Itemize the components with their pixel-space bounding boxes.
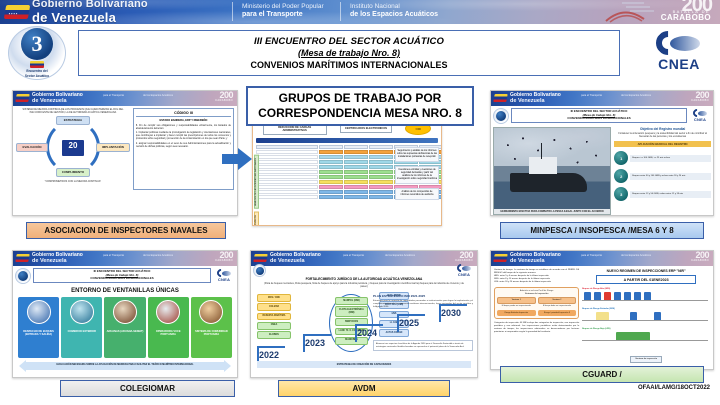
mini-cnea-wordmark: CNEA	[213, 277, 235, 282]
cycle-diagram-panel: SISTEMA DE MEJORA CONTINUA DE LOS PROCES…	[16, 108, 130, 190]
slide-cguard[interactable]: Gobierno Bolivariano de Venezuela para e…	[490, 250, 714, 370]
table-cell	[369, 160, 393, 164]
mini-gov-line-2: de Venezuela	[510, 258, 561, 264]
year-2024: 2024	[357, 328, 377, 338]
ministry-transport-bold: para el Transporte	[242, 11, 303, 18]
column-photo-2	[70, 300, 94, 324]
mini-cnea-logo: CNEA	[453, 264, 475, 277]
blue-arrow-icon	[222, 148, 252, 170]
registro-band: APLICACIÓN GRADUAL DEL REGISTRO	[614, 141, 711, 147]
nir-title: NUEVO REGIMEN DE INSPECCIONES ERP "NIR"	[582, 269, 710, 273]
mini-cnea-mark-icon	[693, 109, 707, 117]
mini-carabobo-label: CARABOBO	[455, 259, 473, 262]
ventanilla-column-1[interactable]: DESPACHO DE BUQUES (ENTRADA Y SALIDA)	[18, 297, 59, 358]
mini-cnea-logo: CNEA	[689, 109, 711, 122]
table-cell	[344, 160, 368, 164]
table-cell	[369, 195, 393, 199]
table-header-cell	[369, 145, 393, 149]
table-cell	[369, 180, 393, 184]
step-text-1: Buques >= 100 GRB, >= 25 mts eslora	[630, 155, 711, 162]
mini-gov-branding: Gobierno Bolivariano de Venezuela	[32, 252, 83, 264]
cycle-node-cumplimiento: CUMPLIMIENTO	[56, 168, 90, 177]
column-photo-1	[27, 300, 51, 324]
perfil-riesgo-title: Admisión o rechazo Perfil de Riesgo	[497, 290, 576, 292]
callout-grupos-trabajo: GRUPOS DE TRABAJO POR CORRESPONDENCIA ME…	[246, 86, 474, 126]
slide-mini-banner: Gobierno Bolivariano de Venezuela para e…	[491, 251, 713, 266]
table-row	[256, 160, 318, 164]
slide-tr-body: HERRAMIENTA EFECTIVA PARA COMBATIR LA PE…	[491, 125, 713, 216]
page-title-line-1: III ENCUENTRO DEL SECTOR ACUÁTICO	[254, 36, 444, 47]
page-title-line-2: (Mesa de trabajo Nro. 8)	[298, 48, 400, 58]
ventana-2-pill: Ventana 2	[538, 297, 577, 304]
tc-blue-header-bar	[256, 138, 438, 143]
risk-axis-standard	[582, 320, 708, 321]
slide-avdm[interactable]: Gobierno Bolivariano de Venezuela para e…	[250, 250, 478, 378]
table-cell	[369, 155, 393, 159]
ventanilla-column-2[interactable]: COMERCIO EXTERIOR	[61, 297, 102, 358]
mini-ministry-1: para el Transporte	[343, 254, 364, 257]
ventana-tiempo-panel: Ventana de tiempo: La ventana de tiempo …	[494, 269, 579, 363]
mini-encuentro-logo	[15, 268, 31, 284]
mini-ministry-2: de los Espacios Acuáticos	[621, 94, 651, 97]
slide-mini-banner: Gobierno Bolivariano de Venezuela para e…	[491, 91, 713, 106]
registro-text: Fortalecer la ordenación pesquera y la s…	[614, 132, 711, 138]
slide-asociacion-inspectores-navales[interactable]: Gobierno Bolivariano de Venezuela para e…	[12, 90, 238, 216]
logo-number: 3	[21, 28, 53, 60]
mini-carabobo-label: CARABOBO	[691, 99, 709, 102]
document-reference-code: OFAAI/LAMG/18OCT2022	[560, 385, 710, 391]
mini-gov-line-2: de Venezuela	[270, 258, 321, 264]
ministry-aquatic-bold: de los Espacios Acuáticos	[350, 11, 438, 18]
risk-row-low: Buques de Riesgo Bajo (LRS)	[582, 328, 710, 344]
avdm-timeline: MCS / ONU COLMAR RESERVA MARÍTIMA CNEA E…	[251, 288, 477, 370]
table-header-cell	[256, 145, 318, 149]
year-2030: 2030	[441, 308, 461, 318]
side-note-seguridad-maritima: Cuestiones emitidas y cuestiones de segu…	[395, 166, 439, 184]
presentation-page: •••• Gobierno Bolivariano de Venezuela M…	[0, 0, 720, 405]
mini-gov-branding: Gobierno Bolivariano de Venezuela	[32, 92, 83, 104]
slide-bl-title-box: III ENCUENTRO DEL SECTOR ACUÁTICO (Mesa …	[33, 268, 211, 283]
year-2025: 2025	[399, 318, 419, 328]
table-row	[256, 175, 318, 179]
mini-encuentro-logo	[493, 108, 509, 124]
avdm-footer-text: ESTRATEGIA DE CREACIÓN DE CAPACIDADES	[257, 361, 471, 368]
table-cell	[319, 160, 343, 164]
table-row	[256, 190, 318, 194]
nir-chart-panel: NUEVO REGIMEN DE INSPECCIONES ERP "NIR" …	[582, 269, 710, 363]
mini-ministry-2: de los Espacios Acuáticos	[385, 254, 415, 257]
risk-row-standard: Buques de Riesgo Estándar (SRS)	[582, 308, 710, 324]
codigo-paragraph-1: 8. Fin de cumplir sus obligaciones y res…	[136, 124, 231, 130]
banner-divider-1	[232, 2, 233, 21]
ministry-transport-small: Ministerio del Poder Popular	[242, 3, 324, 10]
table-cell	[319, 150, 343, 154]
table-header-cell	[319, 145, 343, 149]
table-cell	[369, 165, 393, 169]
banner-divider-2	[340, 2, 341, 21]
page-header: 3 Encuentro del Sector Acuático III ENCU…	[0, 24, 720, 82]
slide-bl-header: III ENCUENTRO DEL SECTOR ACUÁTICO (Mesa …	[13, 266, 237, 285]
government-branding: Gobierno Bolivariano de Venezuela	[32, 0, 148, 24]
column-label-4: OPERADORA VUCE PORTUARIA	[148, 330, 189, 336]
table-row	[256, 165, 318, 169]
page-title-line-3: CONVENIOS MARÍTIMOS INTERNACIONALES	[250, 60, 447, 70]
table-cell	[369, 175, 393, 179]
ventanilla-column-4[interactable]: OPERADORA VUCE PORTUARIA	[148, 297, 189, 358]
cnea-mark-icon	[656, 30, 702, 56]
mini-ministry-2: de los Espacios Acuáticos	[143, 94, 173, 97]
carabobo-line-2: CARABOBO	[661, 13, 711, 22]
label-asociacion-inspectores-navales[interactable]: ASOCIACION DE INSPECTORES NAVALES	[26, 222, 226, 239]
cnea-wordmark: CNEA	[648, 56, 710, 72]
top-banner: •••• Gobierno Bolivariano de Venezuela M…	[0, 0, 720, 24]
tc-side-labels-left: ANÁLISIS DE LAS NORMATIVAS NACIONALES LI…	[254, 155, 265, 226]
encuentro-logo: 3 Encuentro del Sector Acuático	[8, 26, 66, 80]
photo-vessel-mast	[541, 143, 543, 158]
mini-flag-icon	[253, 254, 267, 262]
ventana-bullet-lrs: LRS: entre 24 y 26 meses después de la ú…	[494, 281, 579, 284]
side-label-lista-verificacion: LISTA DE VERIFICACIÓN / CUMPLIMIENTO DE …	[254, 212, 259, 226]
table-cell	[344, 190, 368, 194]
mini-flag-icon	[15, 254, 29, 262]
photo-vessel-hull	[510, 173, 587, 192]
chip-2022-1: MCS / ONU	[257, 294, 291, 302]
step-text-2: Buques entre 50 y 100 GRB y eslora entre…	[630, 173, 711, 180]
window-callout-text: Ventana de inspección	[630, 356, 662, 363]
year-2022: 2022	[259, 350, 279, 360]
column-photo-4	[156, 300, 180, 324]
plan-estrategico-text: Estrategia para la creación de capacidad…	[373, 300, 473, 309]
mini-ministry-2: de los Espacios Acuáticos	[143, 254, 173, 257]
side-label-analisis-normativas: ANÁLISIS DE LAS NORMATIVAS NACIONALES	[254, 155, 259, 209]
perfil-riesgo-box: Admisión o rechazo Perfil de Riesgo Vent…	[494, 287, 579, 320]
ministry-transport-label: Ministerio del Poder Popular para el Tra…	[242, 3, 324, 19]
mini-cnea-wordmark: CNEA	[453, 272, 475, 277]
chip-2022-5: ELOBOS	[257, 331, 291, 339]
risk-row-high: Buques de Riesgo Alto (HRS)	[582, 288, 710, 304]
mini-gov-line-2: de Venezuela	[32, 258, 83, 264]
slide-mini-banner: Gobierno Bolivariano de Venezuela para e…	[251, 251, 477, 266]
ventana-option-1: Ventana 1 El buque puede ser inspecciona…	[497, 297, 536, 308]
page-title-box: III ENCUENTRO DEL SECTOR ACUÁTICO (Mesa …	[78, 30, 620, 76]
mini-flag-icon	[493, 254, 507, 262]
fishing-vessel-photo: HERRAMIENTA EFECTIVA PARA COMBATIR LA PE…	[493, 127, 611, 215]
column-photo-5	[199, 300, 223, 324]
plan-note-text: Alcanzar tres aspectos clave/hitos de la…	[373, 340, 473, 351]
ventanilla-column-5[interactable]: SISTEMA DE COMUNIDAD PORTUARIA	[191, 297, 232, 358]
mini-cnea-mark-icon	[457, 264, 471, 272]
chip-2022-2: COLMAR	[257, 303, 291, 311]
gov-line-2: de Venezuela	[32, 11, 148, 24]
chip-2023-2: FLOTA ELECTRÓNICA (OMI)	[335, 306, 368, 317]
codigo-panel-title: CÓDIGO III	[136, 111, 231, 117]
ventana-option-2: Ventana 2 El buque debe ser inspeccionad…	[538, 297, 577, 308]
arrow-riesgo-estandar: Riesgo Estándar Inspección	[497, 310, 536, 316]
avdm-subtitle: FORTALECIMIENTO JURÍDICO DE LA AUTORIDAD…	[306, 277, 423, 281]
list-item: 2 Buques entre 50 y 100 GRB y eslora ent…	[614, 169, 711, 183]
slide-bc-header: CNEA	[251, 266, 477, 275]
list-item: 1 Buques >= 100 GRB, >= 25 mts eslora	[614, 151, 711, 165]
table-cell	[319, 180, 343, 184]
table-row	[256, 180, 318, 184]
slide-minpesca-insopesca[interactable]: Gobierno Bolivariano de Venezuela para e…	[490, 90, 714, 216]
table-cell	[344, 180, 368, 184]
nir-effective-date: A PARTIR DEL 01ENE2023	[596, 275, 696, 284]
side-note-informes-deficiencias: Seguimiento y análisis de los informes s…	[395, 147, 439, 162]
arrow-riesgo-prioridad: Riesgo / prioridad Inspección II	[538, 310, 577, 316]
photo-caption: HERRAMIENTA EFECTIVA PARA COMBATIR LA PE…	[494, 209, 610, 214]
mini-carabobo-label: CARABOBO	[691, 259, 709, 262]
table-cell	[319, 175, 343, 179]
table-cell	[369, 190, 393, 194]
mini-ministry-1: para el Transporte	[103, 254, 124, 257]
categorias-inspeccion-text: Categorías de inspección: El NIR incluye…	[494, 322, 579, 334]
column-label-3: ADUANAS (ADUANA-SENIAT)	[106, 330, 145, 333]
year-2023: 2023	[305, 338, 325, 348]
slide-mini-banner: Gobierno Bolivariano de Venezuela para e…	[13, 91, 237, 106]
photo-vessel-superstructure	[529, 157, 557, 174]
registro-title: Objetivo del Registro mundial	[614, 127, 711, 131]
ministry-aquatic-small: Instituto Nacional	[350, 3, 400, 10]
logo-caption-1: Encuentro del	[26, 69, 47, 73]
table-cell	[344, 175, 368, 179]
column-label-2: COMERCIO EXTERIOR	[67, 330, 97, 333]
logo-caption-2: Sector Acuático	[25, 74, 49, 78]
slide-mini-banner: Gobierno Bolivariano de Venezuela para e…	[13, 251, 237, 266]
slide-tr-title-box: III ENCUENTRO DEL SECTOR ACUÁTICO (Mesa …	[511, 108, 687, 123]
table-cell	[369, 170, 393, 174]
ventana-1-caption: El buque puede ser inspeccionado	[497, 305, 536, 307]
cycle-node-estrategia: ESTRATEGIA	[56, 116, 90, 125]
label-avdm[interactable]: AVDM	[278, 380, 450, 397]
step-circle-2: 2	[614, 169, 628, 183]
table-header-cell	[344, 145, 368, 149]
slide-bl-title-3: CONVENIOS MARÍTIMOS INTERNACIONALES	[34, 277, 210, 281]
table-row	[256, 170, 318, 174]
table-cell	[369, 185, 393, 189]
chip-2022-4: CNEA	[257, 322, 291, 330]
cycle-footnote: "COMPROMETIDOS CON LA MEJORA CONTINUA"	[16, 180, 130, 183]
codigo-paragraph-2: 1. Implantar políticas mediante la promu…	[136, 131, 231, 140]
tc-side-labels-right: Seguimiento y análisis de los informes s…	[395, 147, 439, 204]
table-row	[256, 155, 318, 159]
ventanas-arrows: Riesgo Estándar Inspección Riesgo / prio…	[497, 310, 576, 316]
table-cell	[344, 155, 368, 159]
codigo-iii-panel: CÓDIGO III ESTADO BANDERA, ERP Y RIBEREÑ…	[133, 108, 234, 190]
risk-axis-low	[582, 340, 708, 341]
slide-br-body: Ventana de tiempo: La ventana de tiempo …	[491, 266, 713, 366]
table-cell	[369, 150, 393, 154]
arc-waves-icon	[604, 1, 664, 23]
ventanilla-column-3[interactable]: ADUANAS (ADUANA-SENIAT)	[104, 297, 145, 358]
risk-label-low: Buques de Riesgo Bajo (LRS)	[582, 328, 710, 330]
cycle-center-logo: 20	[62, 140, 84, 156]
plan-estrategico-title: PLAN ESTRATÉGICO IMO 2021-2025	[373, 294, 473, 298]
ventana-2-caption: El buque debe ser inspeccionado	[538, 305, 577, 307]
table-cell	[319, 190, 343, 194]
arrow-right-head-icon	[224, 360, 231, 372]
label-minpesca-insopesca[interactable]: MINPESCA / INSOPESCA /MESA 6 Y 8	[500, 222, 704, 239]
label-cguard[interactable]: CGUARD /	[500, 366, 704, 383]
table-row	[256, 150, 318, 154]
column-label-1: DESPACHO DE BUQUES (ENTRADA Y SALIDA)	[18, 330, 59, 336]
mini-gov-branding: Gobierno Bolivariano de Venezuela	[510, 92, 561, 104]
mini-gov-branding: Gobierno Bolivariano de Venezuela	[510, 252, 561, 264]
table-cell	[344, 170, 368, 174]
cnea-logo: CNEA	[648, 28, 710, 78]
mini-ministry-2: de los Espacios Acuáticos	[621, 254, 651, 257]
slide-tl-body: SISTEMA DE MEJORA CONTINUA DE LOS PROCES…	[13, 106, 237, 192]
cycle-diagram-caption: SISTEMA DE MEJORA CONTINUA DE LOS PROCES…	[16, 108, 130, 114]
ventanillas-arrow-banner: EVALUACIÓN NECESARIA SOBRE LA APLICACIÓN…	[19, 360, 231, 372]
logo-flag-icon	[30, 61, 44, 68]
list-item: 3 Buques entre 12 y 50 GRB, eslora entre…	[614, 187, 711, 201]
mini-gov-line-2: de Venezuela	[510, 98, 561, 104]
mini-gov-branding: Gobierno Bolivariano de Venezuela	[270, 252, 321, 264]
table-row	[256, 185, 318, 189]
table-cell	[344, 165, 368, 169]
side-note-compendios-auditoria: Análisis de los compendios de informes r…	[395, 188, 439, 200]
table-cell	[319, 185, 343, 189]
risk-label-standard: Buques de Riesgo Estándar (SRS)	[582, 308, 710, 310]
table-cell	[344, 150, 368, 154]
slide-tabla-correspondencia[interactable]: REDUCCION DE CARGAS ADMINISTRATIVAS CERT…	[252, 118, 442, 226]
table-cell	[319, 155, 343, 159]
mini-encuentro-logo	[253, 264, 266, 277]
mini-flag-icon	[493, 94, 507, 102]
step-circle-1: 1	[614, 151, 628, 165]
codigo-paragraph-3: 2. asignar responsabilidades en el seno …	[136, 142, 231, 148]
table-cell	[344, 185, 368, 189]
slide-tr-title-3: CONVENIOS MARÍTIMOS INTERNACIONALES	[512, 117, 686, 121]
table-cell	[319, 165, 343, 169]
mini-cnea-mark-icon	[217, 269, 231, 277]
codigo-panel-subtitle: ESTADO BANDERA, ERP Y RIBEREÑO	[136, 119, 231, 122]
column-photo-3	[113, 300, 137, 324]
avdm-subtitle-block: FORTALECIMIENTO JURÍDICO DE LA AUTORIDAD…	[251, 275, 477, 288]
mini-cnea-wordmark: CNEA	[689, 117, 711, 122]
table-cell	[344, 195, 368, 199]
table-cell	[319, 195, 343, 199]
column-label-5: SISTEMA DE COMUNIDAD PORTUARIA	[191, 330, 232, 336]
ventanas-inspeccion-label: Ventanas de inspección	[497, 293, 576, 295]
ventanas-options: Ventana 1 El buque puede ser inspecciona…	[497, 297, 576, 308]
avdm-footer-arrow: ESTRATEGIA DE CREACIÓN DE CAPACIDADES	[257, 361, 471, 368]
cycle-node-evaluacion: EVALUACIÓN	[16, 143, 48, 152]
chip-2023-1: MARPOL (OMI)	[335, 297, 368, 305]
ministry-aquatic-label: Instituto Nacional de los Espacios Acuát…	[350, 3, 438, 19]
registro-mundial-panel: Objetivo del Registro mundial Fortalecer…	[614, 127, 711, 215]
ventanillas-columns: DESPACHO DE BUQUES (ENTRADA Y SALIDA) CO…	[13, 294, 237, 358]
gov-line-1: Gobierno Bolivariano	[32, 0, 148, 11]
chip-2022-3: RESERVA MARÍTIMA	[257, 313, 291, 321]
mini-ministry-1: para el Transporte	[581, 94, 602, 97]
ventanillas-arrow-text: EVALUACIÓN NECESARIA SOBRE LA APLICACIÓN…	[19, 364, 231, 366]
table-row	[256, 195, 318, 199]
risk-axis-high	[582, 300, 708, 301]
slide-colegiomar[interactable]: Gobierno Bolivariano de Venezuela para e…	[12, 250, 238, 378]
mini-carabobo-label: CARABOBO	[215, 99, 233, 102]
window-callout: Ventana de inspección	[582, 346, 710, 364]
risk-label-high: Buques de Riesgo Alto (HRS)	[582, 288, 710, 290]
mini-flag-icon	[15, 94, 29, 102]
cycle-diagram: ESTRATEGIA IMPLANTACIÓN CUMPLIMIENTO EVA…	[16, 116, 130, 178]
mini-carabobo-label: CARABOBO	[215, 259, 233, 262]
mini-gov-line-2: de Venezuela	[32, 98, 83, 104]
cycle-node-implantacion: IMPLANTACIÓN	[96, 143, 130, 152]
chips-2022: MCS / ONU COLMAR RESERVA MARÍTIMA CNEA E…	[257, 294, 291, 340]
carabobo-bicentennial-logo: 200 BATALLA DE CARABOBO	[596, 0, 716, 24]
label-colegiomar[interactable]: COLEGIOMAR	[60, 380, 235, 397]
mini-cnea-logo: CNEA	[213, 269, 235, 282]
mini-ministry-1: para el Transporte	[581, 254, 602, 257]
ventana-1-pill: Ventana 1	[497, 297, 536, 304]
step-text-3: Buques entre 12 y 50 GRB, eslora entre 1…	[630, 191, 711, 198]
slide-tr-header: III ENCUENTRO DEL SECTOR ACUÁTICO (Mesa …	[491, 106, 713, 125]
mini-ministry-1: para el Transporte	[103, 94, 124, 97]
venezuela-flag-icon: ••••	[4, 5, 30, 19]
slide-tc-body: REDUCCION DE CARGAS ADMINISTRATIVAS CERT…	[253, 119, 441, 225]
table-cell	[319, 170, 343, 174]
step-circle-3: 3	[614, 187, 628, 201]
